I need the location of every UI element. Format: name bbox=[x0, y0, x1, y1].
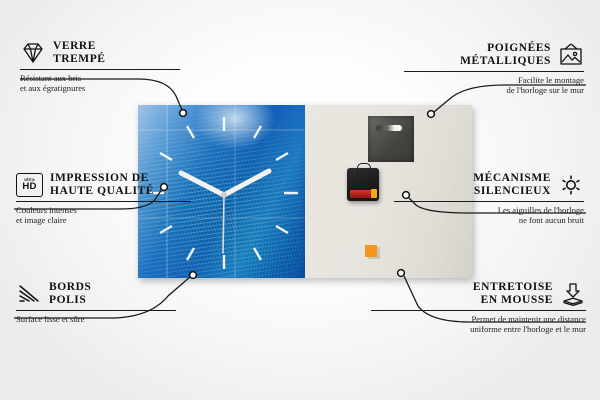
feature-bords-polis: BORDS POLIS Surface lisse et sûre bbox=[16, 281, 176, 324]
infographic-canvas: VERRE TREMPÉ Résistant aux bris et aux é… bbox=[0, 0, 600, 400]
title-underline bbox=[20, 69, 180, 70]
feature-header: VERRE TREMPÉ bbox=[20, 40, 180, 66]
feature-verre-trempe: VERRE TREMPÉ Résistant aux bris et aux é… bbox=[20, 40, 180, 94]
feature-header: BORDS POLIS bbox=[16, 281, 176, 307]
feature-title: MÉCANISME SILENCIEUX bbox=[473, 172, 551, 198]
feature-desc-line2: de l'horloge sur le mur bbox=[404, 85, 584, 95]
feature-mecanisme-silencieux: MÉCANISME SILENCIEUX Les aiguilles de l'… bbox=[394, 172, 584, 226]
metal-hanger-plate bbox=[368, 116, 414, 162]
feature-desc-line2: ne font aucun bruit bbox=[394, 215, 584, 225]
title-underline bbox=[371, 310, 586, 311]
quartz-mechanism bbox=[347, 168, 379, 201]
hands-center-cap bbox=[221, 192, 227, 198]
feature-desc-line2: et aux égratignures bbox=[20, 83, 180, 93]
feature-poignees-metalliques: POIGNÉES MÉTALLIQUES Facilite le montage… bbox=[404, 42, 584, 96]
feature-header: MÉCANISME SILENCIEUX bbox=[394, 172, 584, 198]
feature-entretoise-en-mousse: ENTRETOISE EN MOUSSE Permet de maintenir… bbox=[371, 281, 586, 335]
foam-spacer bbox=[365, 245, 377, 257]
feature-desc-line1: Facilite le montage bbox=[404, 75, 584, 85]
feature-title: VERRE TREMPÉ bbox=[53, 40, 106, 66]
battery bbox=[350, 190, 376, 198]
feature-title: POIGNÉES MÉTALLIQUES bbox=[460, 42, 551, 68]
feature-desc-line1: Permet de maintenir une distance bbox=[371, 314, 586, 324]
feature-desc-line1: Les aiguilles de l'horloge bbox=[394, 205, 584, 215]
title-underline bbox=[16, 201, 191, 202]
polished-edge-lines-icon bbox=[16, 282, 42, 306]
hanger-keyhole-slot bbox=[376, 125, 402, 131]
feature-header: ultra HD IMPRESSION DE HAUTE QUALITÉ bbox=[16, 172, 191, 198]
feature-desc-line1: Résistant aux bris bbox=[20, 73, 180, 83]
feature-header: POIGNÉES MÉTALLIQUES bbox=[404, 42, 584, 68]
gear-icon bbox=[558, 173, 584, 197]
title-underline bbox=[404, 71, 584, 72]
feature-desc-line1: Surface lisse et sûre bbox=[16, 314, 176, 324]
feature-desc-line2: et image claire bbox=[16, 215, 191, 225]
picture-frame-hanger-icon bbox=[558, 43, 584, 67]
down-arrow-on-pad-icon bbox=[560, 282, 586, 306]
diamond-icon bbox=[20, 41, 46, 65]
feature-impression-hd: ultra HD IMPRESSION DE HAUTE QUALITÉ Cou… bbox=[16, 172, 191, 226]
mechanism-hanging-loop bbox=[357, 163, 371, 172]
title-underline bbox=[394, 201, 584, 202]
feature-title: BORDS POLIS bbox=[49, 281, 91, 307]
minute-hand bbox=[224, 171, 269, 195]
feature-desc-line1: Couleurs intenses bbox=[16, 205, 191, 215]
feature-title: IMPRESSION DE HAUTE QUALITÉ bbox=[50, 172, 154, 198]
title-underline bbox=[16, 310, 176, 311]
feature-title: ENTRETOISE EN MOUSSE bbox=[473, 281, 553, 307]
feature-desc-line2: uniforme entre l'horloge et le mur bbox=[371, 324, 586, 334]
feature-header: ENTRETOISE EN MOUSSE bbox=[371, 281, 586, 307]
second-hand bbox=[223, 195, 224, 253]
ultra-hd-badge-icon: ultra HD bbox=[16, 173, 43, 197]
